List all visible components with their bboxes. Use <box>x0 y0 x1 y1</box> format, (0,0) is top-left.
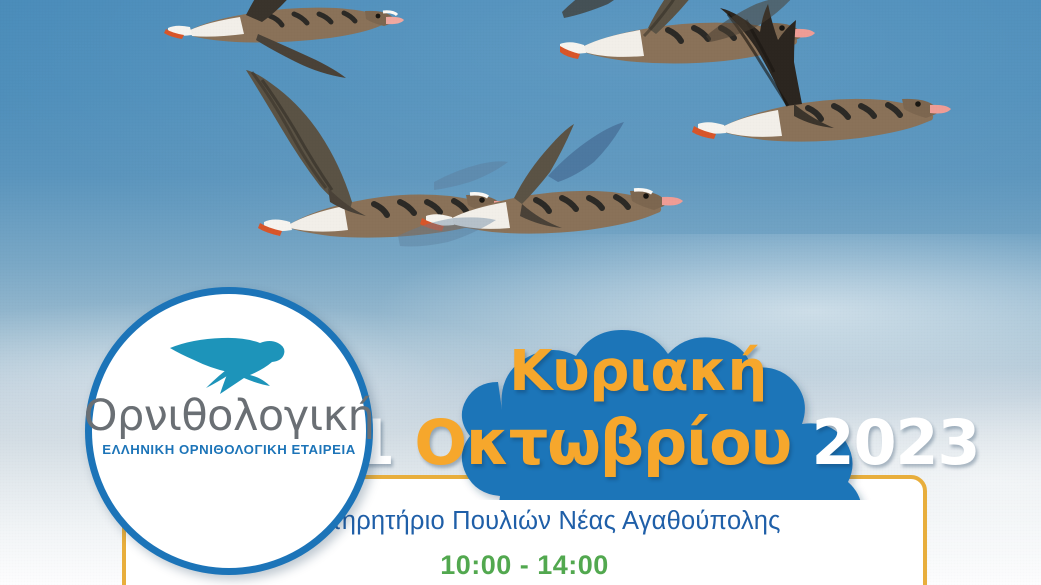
logo-subtitle: ΕΛΛΗΝΙΚΗ ΟΡΝΙΘΟΛΟΓΙΚΗ ΕΤΑΙΡΕΙΑ <box>102 442 356 457</box>
logo-wordmark: Ορνιθολογική <box>84 394 375 439</box>
weekday-text: Κυριακή <box>352 339 924 404</box>
date-line: 1 Οκτωβρίου 2023 <box>352 406 924 479</box>
month-name: Οκτωβρίου <box>414 406 791 479</box>
organization-logo[interactable]: Ορνιθολογική ΕΛΛΗΝΙΚΗ ΟΡΝΙΘΟΛΟΓΙΚΗ ΕΤΑΙΡ… <box>85 287 373 575</box>
event-poster: Παρατηρητήριο Πουλιών Νέας Αγαθούπολης 1… <box>0 0 1041 585</box>
date-banner: Κυριακή 1 Οκτωβρίου 2023 <box>352 318 924 500</box>
swallow-bird-icon <box>166 334 292 396</box>
year-number: 2023 <box>812 406 980 479</box>
